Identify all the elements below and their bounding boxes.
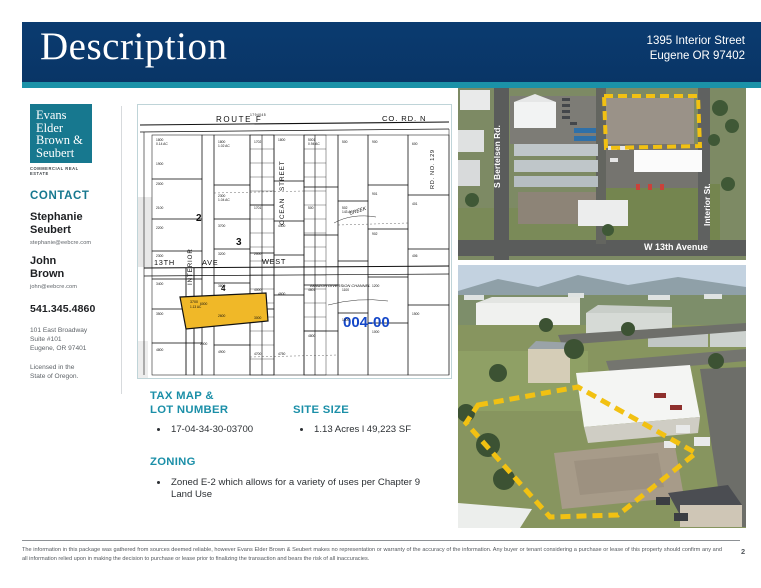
tax-map-value-item: 17-04-34-30-03700 [150,424,290,437]
zoning-heading: ZONING [150,456,450,470]
site-size-block: SITE SIZE 1.13 Acres l 49,223 SF [293,390,448,437]
zoning-block: ZONING Zoned E-2 which allows for a vari… [150,456,450,502]
aerial-photo-oblique[interactable] [458,265,746,528]
aerial-top-down-graphic: S Bertelsen Rd. Interior St. W 13th Aven… [458,88,746,260]
svg-text:1.02 AC: 1.02 AC [218,144,230,148]
street-label-bertelsen: S Bertelsen Rd. [492,125,502,188]
svg-text:401: 401 [412,202,418,206]
map-number-label: 004-00 [343,314,390,331]
svg-text:4750: 4750 [278,352,286,356]
bullet-dot-icon [157,428,160,431]
svg-text:6000: 6000 [200,302,208,306]
contact-name-john-line1: John [30,255,122,268]
page-number: 2 [741,547,745,556]
svg-text:3400: 3400 [156,282,164,286]
bullet-dot-icon [157,481,160,484]
svg-text:4600: 4600 [278,292,286,296]
svg-text:2000: 2000 [254,252,262,256]
svg-text:600: 600 [412,142,418,146]
sidebar: Evans Elder Brown & Seubert Commercial R… [30,104,122,381]
contact-name-stephanie-line1: Stephanie [30,211,122,224]
svg-text:0.94 AC: 0.94 AC [308,142,320,146]
footer-divider [22,540,740,541]
svg-text:1702: 1702 [254,140,262,144]
map-label-13th: 13TH [154,258,175,267]
logo-line-4: Seubert [36,147,86,160]
svg-text:902: 902 [372,232,378,236]
svg-text:1200: 1200 [372,284,380,288]
contact-email-stephanie[interactable]: stephanie@eebcre.com [30,240,122,246]
svg-text:1701: 1701 [254,206,262,210]
map-label-street: STREET [279,160,286,191]
svg-text:4000: 4000 [254,288,262,292]
license-note-line1: Licensed in the [30,363,122,372]
svg-text:4800: 4800 [156,348,164,352]
bullet-dot-icon [300,428,303,431]
office-address-line2: Suite #101 [30,335,122,344]
svg-text:4700: 4700 [254,352,262,356]
svg-text:500: 500 [342,140,348,144]
svg-text:3700: 3700 [218,224,226,228]
company-logo: Evans Elder Brown & Seubert [30,104,92,163]
svg-text:1.04 AC: 1.04 AC [218,198,230,202]
svg-text:3500: 3500 [156,312,164,316]
svg-text:1100: 1100 [342,288,349,292]
aerial-oblique-graphic [458,265,746,528]
document-page: Description 1395 Interior Street Eugene … [0,0,761,588]
map-label-interior: INTERIOR [187,248,194,285]
contact-heading: CONTACT [30,190,122,202]
page-title: Description [40,24,227,69]
street-label-13th-avenue: W 13th Avenue [644,242,708,252]
tax-map-heading: TAX MAP & LOT NUMBER [150,390,290,417]
tax-map-drawing: ROUTE F CO. RD. N 1794045 [138,105,451,378]
contact-email-john[interactable]: john@eebcre.com [30,284,122,290]
office-address-line1: 101 East Broadway [30,326,122,335]
subject-parcel-number: 3700 [190,300,198,304]
map-label-rd-no-129: RD. NO. 129 [430,149,436,189]
map-zone-2: 2 [196,213,202,224]
svg-text:AMAZON DIVERSION CHANNEL: AMAZON DIVERSION CHANNEL [309,283,370,288]
svg-text:2300: 2300 [156,254,164,258]
svg-text:1794045: 1794045 [250,113,266,117]
svg-text:3000: 3000 [254,316,262,320]
tax-map-heading-line1: TAX MAP & [150,390,290,404]
site-size-heading: SITE SIZE [293,390,448,417]
svg-text:1800: 1800 [278,138,286,142]
tax-map[interactable]: ROUTE F CO. RD. N 1794045 [137,104,452,379]
svg-text:2200: 2200 [156,226,164,230]
logo-line-1: Evans [36,109,86,122]
property-details: TAX MAP & LOT NUMBER 17-04-34-30-03700 S… [150,390,450,452]
contact-name-john: John Brown [30,255,122,281]
page-header: Description 1395 Interior Street Eugene … [22,22,761,82]
svg-text:406: 406 [412,254,418,258]
svg-text:901: 901 [372,192,378,196]
svg-text:4900: 4900 [218,350,226,354]
svg-text:1500: 1500 [412,312,420,316]
svg-text:4601: 4601 [308,288,316,292]
license-note-line2: State of Oregon. [30,372,122,381]
svg-text:3800: 3800 [218,284,226,288]
property-address: 1395 Interior Street Eugene OR 97402 [647,34,745,64]
svg-text:2600: 2600 [218,314,226,318]
tax-map-value: 17-04-34-30-03700 [171,424,253,435]
map-label-county-road: CO. RD. N [382,114,426,123]
svg-text:1900: 1900 [156,162,164,166]
site-size-value: 1.13 Acres l 49,223 SF [314,424,411,435]
site-size-value-item: 1.13 Acres l 49,223 SF [293,424,448,437]
license-note: Licensed in the State of Oregon. [30,363,122,381]
tax-map-heading-line2: LOT NUMBER [150,404,290,418]
svg-text:2100: 2100 [156,206,164,210]
office-address: 101 East Broadway Suite #101 Eugene, OR … [30,326,122,354]
footer-disclaimer: The information in this package was gath… [22,546,722,563]
contact-phone[interactable]: 541.345.4860 [30,303,122,315]
svg-text:0.14 AC: 0.14 AC [156,142,168,146]
svg-text:500: 500 [308,206,314,210]
tax-map-block: TAX MAP & LOT NUMBER 17-04-34-30-03700 [150,390,290,437]
svg-text:900: 900 [372,140,378,144]
map-zone-3: 3 [236,237,242,248]
property-address-line2: Eugene OR 97402 [647,49,745,64]
svg-text:2000: 2000 [156,182,164,186]
map-label-ave: AVE [202,258,218,267]
svg-text:1000: 1000 [372,330,380,334]
street-label-interior: Interior St. [702,183,712,226]
map-label-ocean: OCEAN [279,198,286,225]
zoning-value-item: Zoned E-2 which allows for a variety of … [150,477,421,502]
svg-text:4400: 4400 [278,224,286,228]
svg-text:1300: 1300 [342,318,350,322]
logo-tagline: Commercial Real Estate [30,166,98,176]
svg-text:4800: 4800 [308,334,316,338]
zoning-value: Zoned E-2 which allows for a variety of … [171,477,420,501]
contact-name-john-line2: Brown [30,268,122,281]
svg-text:2900: 2900 [200,342,208,346]
contact-name-stephanie-line2: Seubert [30,224,122,237]
map-label-west: WEST [262,257,286,266]
office-address-line3: Eugene, OR 97401 [30,344,122,353]
property-address-line1: 1395 Interior Street [647,34,745,49]
logo-line-3: Brown & [36,134,86,147]
aerial-photo-top-down[interactable]: S Bertelsen Rd. Interior St. W 13th Aven… [458,88,746,260]
contact-name-stephanie: Stephanie Seubert [30,211,122,237]
svg-text:3200: 3200 [218,252,226,256]
